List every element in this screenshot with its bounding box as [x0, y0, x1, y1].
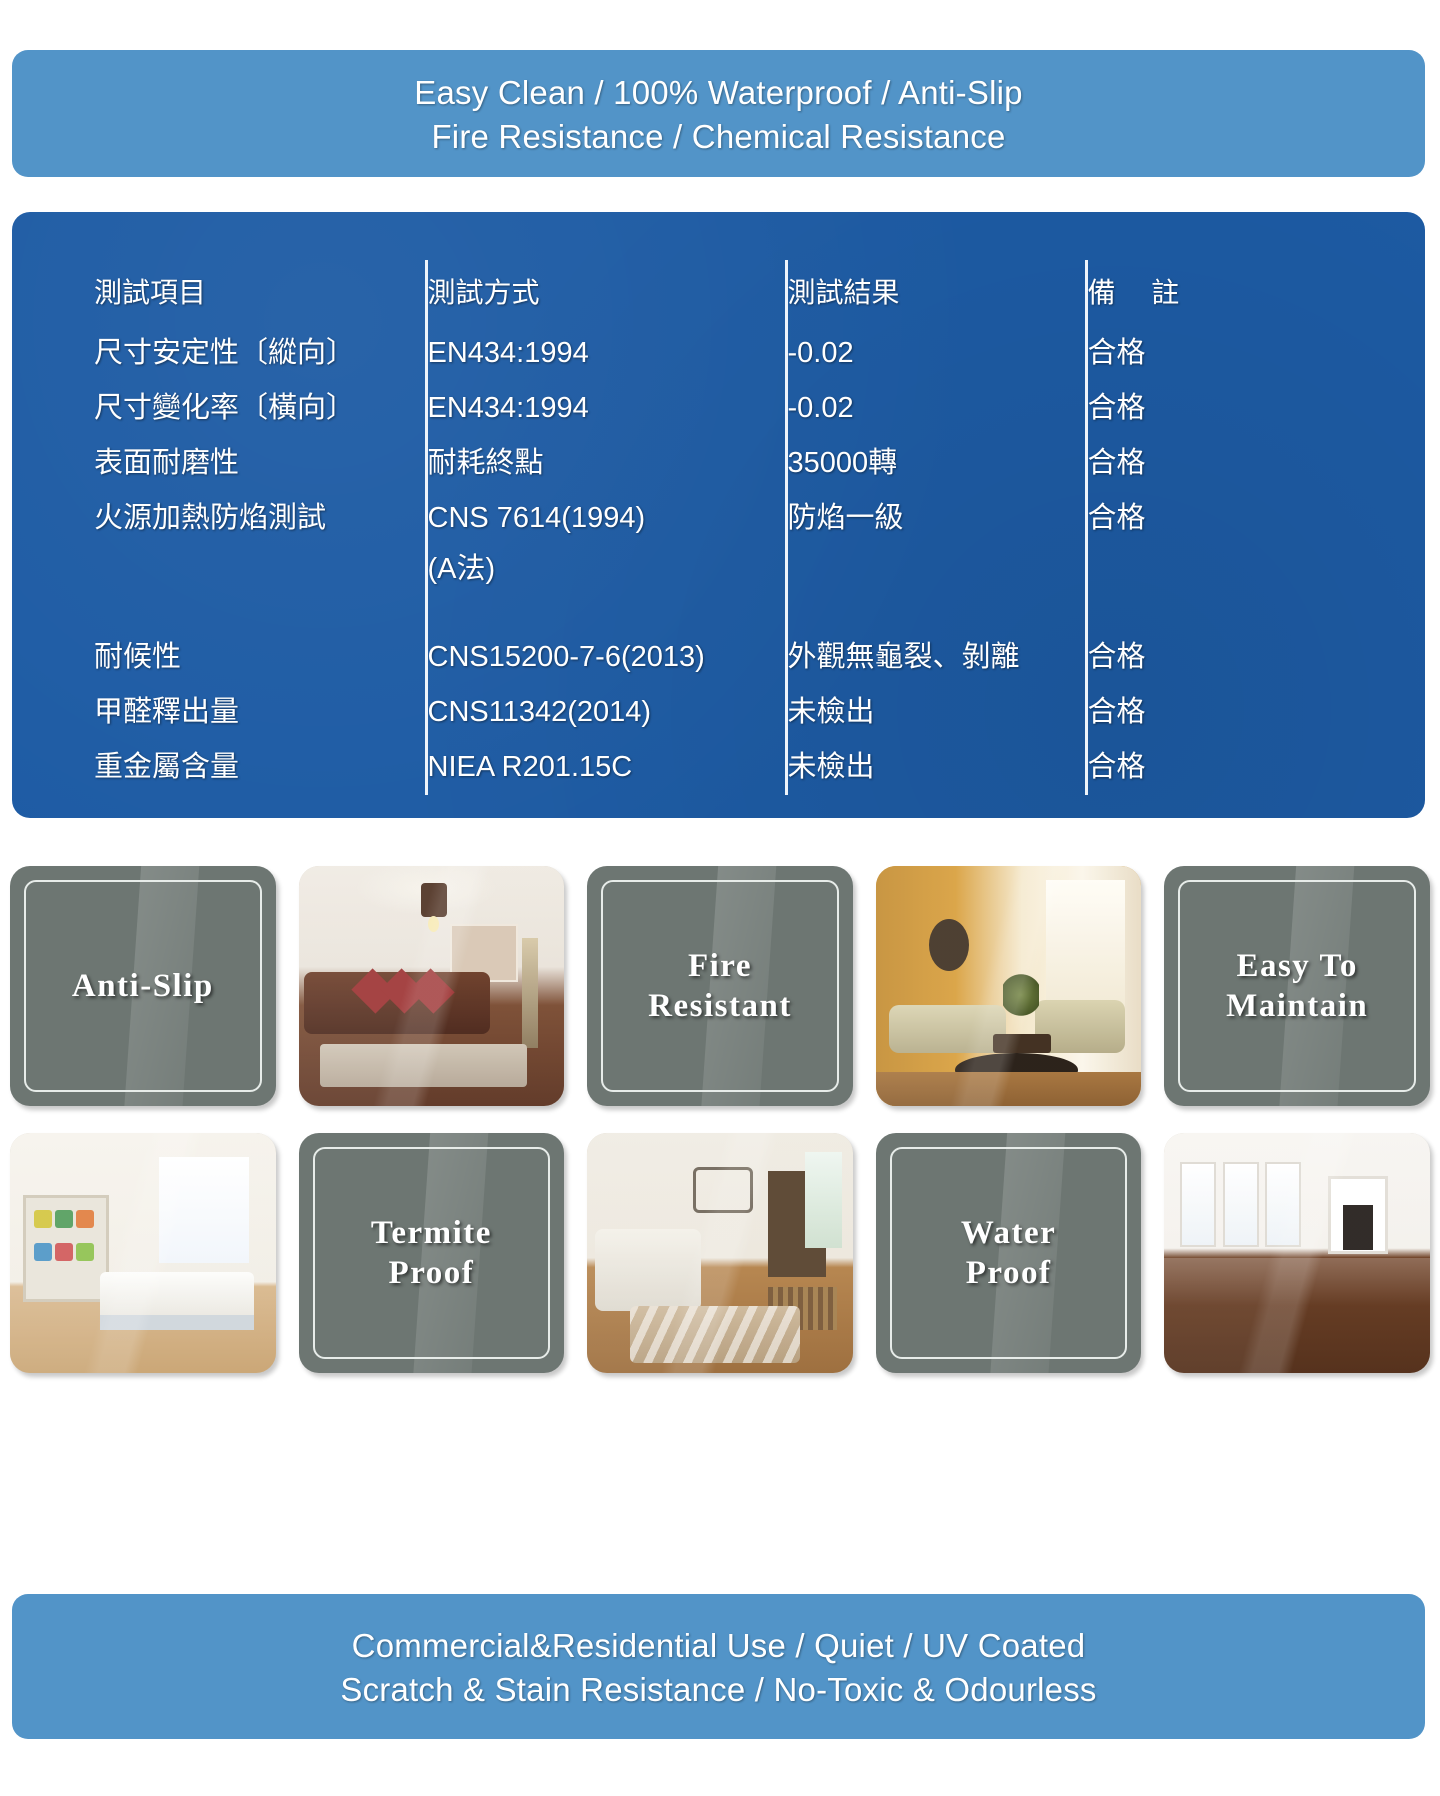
tile-label-line-2: Maintain	[1164, 986, 1430, 1026]
room-photo-illustration	[10, 1133, 276, 1373]
cell-test-result: 未檢出	[786, 740, 1086, 795]
cell-remark: 合格	[1086, 381, 1364, 436]
cell-test-item: 火源加熱防焰測試	[94, 491, 426, 546]
window	[1180, 1162, 1216, 1248]
sofa	[889, 1005, 1006, 1053]
test-report-panel: 測試項目 測試方式 測試結果 備 註 尺寸安定性〔縱向〕 EN434:1994 …	[12, 212, 1425, 818]
photo-tile-living-room-with-rug	[587, 1133, 853, 1373]
photo-tile-kids-playroom	[10, 1133, 276, 1373]
cell-test-item: 耐候性	[94, 630, 426, 685]
feature-tile-termite-proof: Termite Proof	[299, 1133, 565, 1373]
floor-lamp	[522, 938, 538, 1048]
column-header-test-method: 測試方式	[426, 260, 786, 326]
plant-icon	[1003, 972, 1039, 1018]
cell-empty	[786, 546, 1086, 592]
tile-label: Water Proof	[876, 1213, 1142, 1293]
top-banner-line-1: Easy Clean / 100% Waterproof / Anti-Slip	[12, 71, 1425, 115]
tile-label-line-1: Easy To	[1164, 946, 1430, 986]
cell-test-result: 外觀無龜裂、剝離	[786, 630, 1086, 685]
cell-test-item: 甲醛釋出量	[94, 685, 426, 740]
window	[1223, 1162, 1259, 1248]
cell-remark: 合格	[1086, 491, 1364, 546]
window	[805, 1152, 842, 1248]
room-photo-illustration	[1164, 1133, 1430, 1373]
cell-remark: 合格	[1086, 740, 1364, 795]
table-row-continuation: (A法)	[94, 546, 1364, 592]
tile-label: Easy To Maintain	[1164, 946, 1430, 1026]
table-spacer-row	[94, 592, 1364, 630]
cell-test-item: 重金屬含量	[94, 740, 426, 795]
bottom-feature-banner: Commercial&Residential Use / Quiet / UV …	[12, 1594, 1425, 1739]
tile-label-line-1: Anti-Slip	[10, 966, 276, 1006]
top-banner-line-2: Fire Resistance / Chemical Resistance	[12, 115, 1425, 159]
table-row: 火源加熱防焰測試 CNS 7614(1994) 防焰一級 合格	[94, 491, 1364, 546]
wall-art	[693, 1167, 753, 1213]
table-header-row: 測試項目 測試方式 測試結果 備 註	[94, 260, 1364, 326]
tile-label-line-1: Fire	[587, 946, 853, 986]
tile-label: Fire Resistant	[587, 946, 853, 1026]
table-row: 尺寸安定性〔縱向〕 EN434:1994 -0.02 合格	[94, 326, 1364, 381]
cell-test-result: -0.02	[786, 326, 1086, 381]
feature-tile-anti-slip: Anti-Slip	[10, 866, 276, 1106]
table-row: 重金屬含量 NIEA R201.15C 未檢出 合格	[94, 740, 1364, 795]
table-row: 尺寸變化率〔橫向〕 EN434:1994 -0.02 合格	[94, 381, 1364, 436]
cell-test-method: NIEA R201.15C	[426, 740, 786, 795]
cell-remark: 合格	[1086, 326, 1364, 381]
tile-label-line-2: Proof	[299, 1253, 565, 1293]
cell-test-result: -0.02	[786, 381, 1086, 436]
tile-label-line-1: Termite	[299, 1213, 565, 1253]
wood-floor	[876, 1072, 1142, 1106]
toy-block	[34, 1210, 52, 1228]
toy-block	[76, 1243, 94, 1261]
photo-tile-warm-yellow-living-room	[876, 866, 1142, 1106]
cell-test-method: EN434:1994	[426, 326, 786, 381]
cell-test-item: 尺寸安定性〔縱向〕	[94, 326, 426, 381]
toy-block	[55, 1243, 73, 1261]
cell-test-result: 防焰一級	[786, 491, 1086, 546]
fireplace	[1328, 1176, 1387, 1254]
room-photo-illustration	[587, 1133, 853, 1373]
photo-tile-empty-room-fireplace	[1164, 1133, 1430, 1373]
tile-label: Anti-Slip	[10, 966, 276, 1006]
cell-remark: 合格	[1086, 630, 1364, 685]
cell-test-method: CNS11342(2014)	[426, 685, 786, 740]
cell-test-result: 未檢出	[786, 685, 1086, 740]
tile-label-line-2: Resistant	[587, 986, 853, 1026]
cell-empty	[94, 546, 426, 592]
window	[159, 1157, 249, 1263]
cell-test-method: CNS 7614(1994)	[426, 491, 786, 546]
feature-tile-easy-to-maintain: Easy To Maintain	[1164, 866, 1430, 1106]
top-feature-banner: Easy Clean / 100% Waterproof / Anti-Slip…	[12, 50, 1425, 177]
bed-base	[100, 1315, 254, 1329]
bottom-banner-line-2: Scratch & Stain Resistance / No-Toxic & …	[12, 1668, 1425, 1712]
cell-test-method-sub: (A法)	[426, 546, 786, 592]
toy-block	[55, 1210, 73, 1228]
test-report-table: 測試項目 測試方式 測試結果 備 註 尺寸安定性〔縱向〕 EN434:1994 …	[94, 260, 1364, 795]
cell-test-method: CNS15200-7-6(2013)	[426, 630, 786, 685]
tile-label-line-1: Water	[876, 1213, 1142, 1253]
tile-label-line-2: Proof	[876, 1253, 1142, 1293]
wall-clock-icon	[929, 919, 969, 971]
photo-tile-dark-sofa-living-room	[299, 866, 565, 1106]
cell-test-item: 表面耐磨性	[94, 436, 426, 491]
table-row: 表面耐磨性 耐耗終點 35000轉 合格	[94, 436, 1364, 491]
cell-test-method: EN434:1994	[426, 381, 786, 436]
column-header-remark: 備 註	[1086, 260, 1364, 326]
column-header-test-result: 測試結果	[786, 260, 1086, 326]
cell-empty	[1086, 546, 1364, 592]
tile-label: Termite Proof	[299, 1213, 565, 1293]
room-photo-illustration	[876, 866, 1142, 1106]
floor-reflection	[1164, 1258, 1430, 1306]
feature-tile-water-proof: Water Proof	[876, 1133, 1142, 1373]
cell-test-method: 耐耗終點	[426, 436, 786, 491]
cell-remark: 合格	[1086, 436, 1364, 491]
cell-remark: 合格	[1086, 685, 1364, 740]
window	[1265, 1162, 1301, 1248]
pendant-lamp-icon	[421, 883, 447, 917]
toy-block	[76, 1210, 94, 1228]
feature-tile-fire-resistant: Fire Resistant	[587, 866, 853, 1106]
bottom-banner-line-1: Commercial&Residential Use / Quiet / UV …	[12, 1624, 1425, 1668]
patterned-rug	[630, 1306, 800, 1364]
sofa	[595, 1229, 701, 1311]
coffee-table	[993, 1034, 1051, 1053]
room-photo-illustration	[299, 866, 565, 1106]
column-header-test-item: 測試項目	[94, 260, 426, 326]
feature-tile-grid: Anti-Slip Fire Resistant	[10, 866, 1430, 1373]
toy-block	[34, 1243, 52, 1261]
area-rug	[320, 1044, 527, 1087]
table-row: 耐候性 CNS15200-7-6(2013) 外觀無龜裂、剝離 合格	[94, 630, 1364, 685]
table-row: 甲醛釋出量 CNS11342(2014) 未檢出 合格	[94, 685, 1364, 740]
cell-test-result: 35000轉	[786, 436, 1086, 491]
cell-test-item: 尺寸變化率〔橫向〕	[94, 381, 426, 436]
